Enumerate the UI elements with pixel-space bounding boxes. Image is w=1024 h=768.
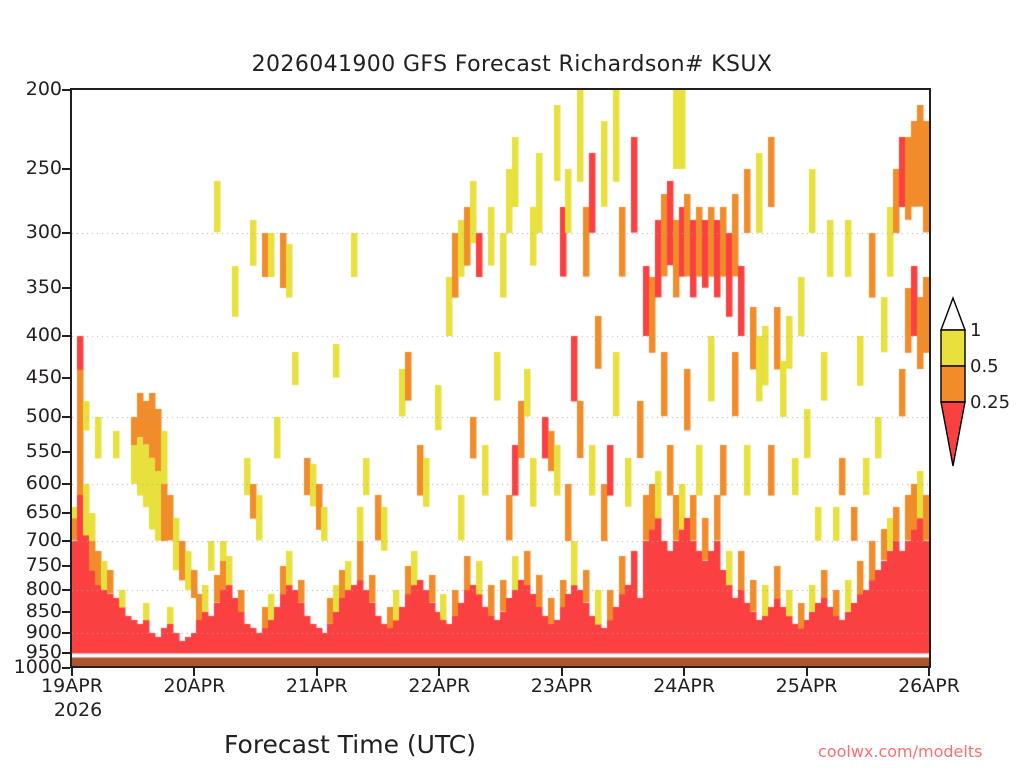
y-tick-mark (62, 483, 70, 485)
y-tick-label: 750 (0, 556, 62, 575)
x-tick-label: 26APR (898, 676, 960, 697)
y-tick-mark (62, 565, 70, 567)
x-tick-mark (561, 668, 563, 676)
y-tick-mark (62, 512, 70, 514)
x-tick-mark (806, 668, 808, 676)
y-tick-label: 850 (0, 602, 62, 621)
colorbar-svg (940, 296, 966, 470)
watermark-link[interactable]: coolwx.com/modelts (818, 742, 982, 761)
y-tick-mark (62, 652, 70, 654)
x-tick-mark (683, 668, 685, 676)
chart-page: 2026041900 GFS Forecast Richardson# KSUX… (0, 0, 1024, 768)
x-tick-mark (438, 668, 440, 676)
y-tick-mark (62, 377, 70, 379)
x-axis-label: Forecast Time (UTC) (0, 730, 700, 759)
x-tick-label: 19APR (41, 676, 103, 697)
x-tick-label: 24APR (653, 676, 715, 697)
y-tick-label: 600 (0, 474, 62, 493)
y-axis: 2002503003504004505005506006507007508008… (0, 0, 62, 768)
x-tick-label: 20APR (164, 676, 226, 697)
page-title: 2026041900 GFS Forecast Richardson# KSUX (0, 52, 1024, 77)
y-tick-label: 200 (0, 80, 62, 99)
y-tick-label: 900 (0, 623, 62, 642)
x-tick-label: 21APR (286, 676, 348, 697)
heatmap-plot-area (70, 88, 931, 668)
y-tick-mark (62, 667, 70, 669)
y-tick-label: 250 (0, 159, 62, 178)
y-tick-label: 500 (0, 407, 62, 426)
y-tick-label: 800 (0, 580, 62, 599)
y-tick-mark (62, 335, 70, 337)
y-tick-label: 350 (0, 278, 62, 297)
x-tick-label: 22APR (408, 676, 470, 697)
y-tick-mark (62, 540, 70, 542)
y-tick-mark (62, 451, 70, 453)
x-tick-year-label: 2026 (54, 700, 102, 721)
colorbar-tick-label: 0.25 (970, 394, 1010, 412)
x-tick-label: 25APR (776, 676, 838, 697)
y-tick-mark (62, 232, 70, 234)
x-tick-mark (71, 668, 73, 676)
colorbar (940, 296, 966, 470)
y-tick-mark (62, 632, 70, 634)
y-tick-label: 550 (0, 442, 62, 461)
colorbar-tick-label: 1 (970, 322, 981, 340)
y-tick-mark (62, 89, 70, 91)
x-tick-mark (928, 668, 930, 676)
y-tick-label: 300 (0, 223, 62, 242)
y-tick-label: 450 (0, 368, 62, 387)
y-tick-mark (62, 287, 70, 289)
x-tick-mark (193, 668, 195, 676)
y-tick-label: 700 (0, 531, 62, 550)
x-tick-label: 23APR (531, 676, 593, 697)
x-tick-mark (316, 668, 318, 676)
y-tick-mark (62, 611, 70, 613)
y-tick-label: 400 (0, 326, 62, 345)
y-tick-mark (62, 589, 70, 591)
x-axis: 19APR202620APR21APR22APR23APR24APR25APR2… (0, 676, 1024, 736)
colorbar-tick-label: 0.5 (970, 358, 999, 376)
heatmap-canvas (72, 90, 929, 666)
y-tick-mark (62, 168, 70, 170)
y-tick-mark (62, 416, 70, 418)
y-tick-label: 650 (0, 503, 62, 522)
